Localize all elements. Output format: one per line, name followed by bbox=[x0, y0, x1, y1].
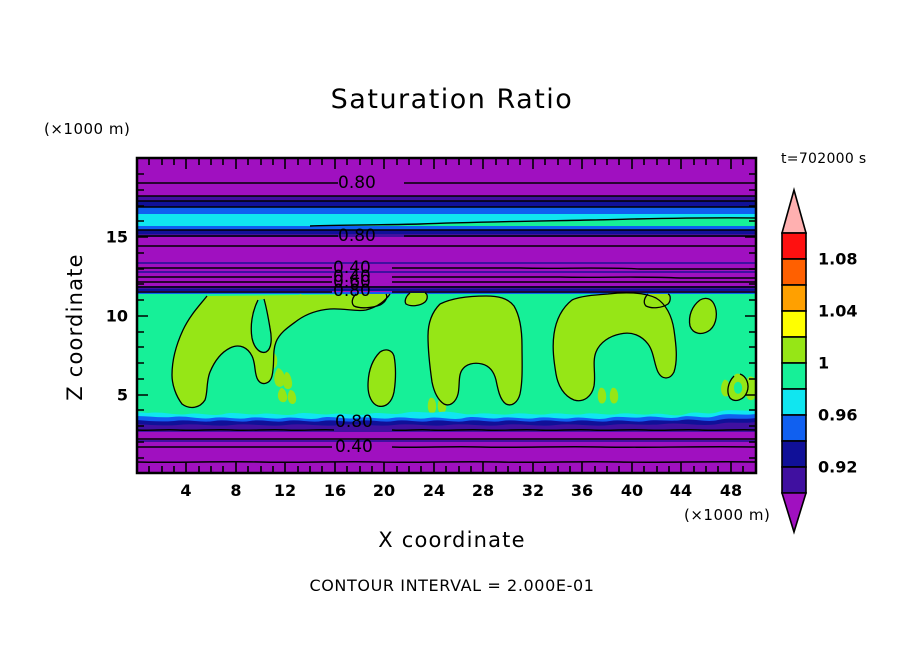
x-tick-label: 44 bbox=[670, 481, 692, 500]
colorbar-tick-label: 0.96 bbox=[818, 406, 857, 425]
contour-label: 0.40 bbox=[335, 437, 373, 457]
contour-fill-layer bbox=[137, 158, 756, 473]
x-tick-label: 36 bbox=[571, 481, 593, 500]
x-tick-label: 40 bbox=[621, 481, 643, 500]
x-tick-label: 8 bbox=[230, 481, 241, 500]
colorbar-under-range-arrow bbox=[782, 493, 806, 532]
x-tick-label: 32 bbox=[522, 481, 544, 500]
sliver-violet-a bbox=[137, 262, 756, 264]
contour-line-080-lower bbox=[137, 430, 756, 431]
colorbar-band-navy bbox=[782, 441, 806, 467]
x-tick-label: 12 bbox=[274, 481, 296, 500]
colorbar-band-yellow-green bbox=[782, 337, 806, 363]
colorbar-over-range-arrow bbox=[782, 190, 806, 233]
colorbar-tick-label: 1.04 bbox=[818, 302, 857, 321]
colorbar-band-orange-red bbox=[782, 259, 806, 285]
x-axis-unit-label: (×1000 m) bbox=[684, 506, 770, 524]
y-tick-label: 15 bbox=[88, 228, 128, 247]
colorbar bbox=[782, 190, 806, 532]
contour-label: 0.80 bbox=[333, 281, 371, 301]
colorbar-band-spring-green bbox=[782, 363, 806, 389]
x-tick-label: 48 bbox=[720, 481, 742, 500]
colorbar-tick-label: 1.08 bbox=[818, 250, 857, 269]
sliver-violet-bottom bbox=[137, 440, 756, 442]
x-tick-label: 24 bbox=[423, 481, 445, 500]
colorbar-tick-label: 1 bbox=[818, 354, 829, 373]
band-navy-upper bbox=[137, 201, 756, 207]
contour-label: 0.80 bbox=[338, 173, 376, 193]
colorbar-band-cyan bbox=[782, 389, 806, 415]
y-axis-title: Z coordinate bbox=[63, 227, 87, 427]
band-blue-upper bbox=[137, 207, 756, 214]
figure-canvas: Saturation Ratio (×1000 m) t=702000 s bbox=[0, 0, 904, 654]
colorbar-band-blue bbox=[782, 415, 806, 441]
colorbar-band-yellow bbox=[782, 311, 806, 337]
colorbar-band-violet bbox=[782, 467, 806, 493]
contour-interval-caption: CONTOUR INTERVAL = 2.000E-01 bbox=[0, 576, 904, 595]
x-tick-label: 28 bbox=[472, 481, 494, 500]
colorbar-tick-label: 0.92 bbox=[818, 458, 857, 477]
x-tick-label: 16 bbox=[324, 481, 346, 500]
sliver-violet-b bbox=[137, 271, 756, 273]
contour-line-040-lower bbox=[137, 447, 756, 448]
contour-line-lower-b bbox=[137, 462, 756, 463]
colorbar-band-orange bbox=[782, 285, 806, 311]
band-violet-upper bbox=[137, 196, 756, 201]
contour-plot bbox=[0, 0, 904, 654]
colorbar-band-red bbox=[782, 233, 806, 259]
x-axis-title: X coordinate bbox=[0, 528, 904, 552]
speck-a bbox=[692, 314, 695, 317]
y-tick-label: 10 bbox=[88, 307, 128, 326]
x-tick-label: 20 bbox=[373, 481, 395, 500]
contour-label: 0.80 bbox=[335, 412, 373, 432]
sliver-navy-c bbox=[137, 289, 756, 291]
x-tick-label: 4 bbox=[180, 481, 191, 500]
y-tick-label: 5 bbox=[88, 386, 128, 405]
contour-label: 0.80 bbox=[338, 226, 376, 246]
